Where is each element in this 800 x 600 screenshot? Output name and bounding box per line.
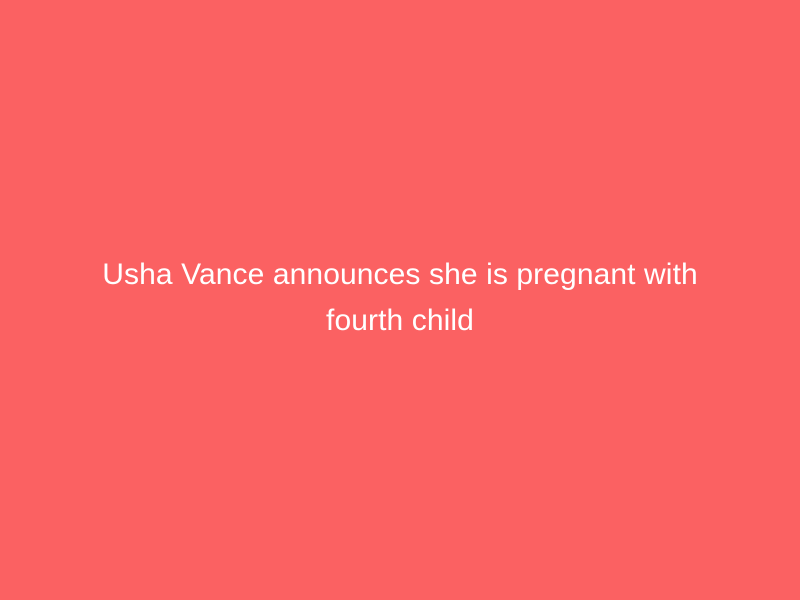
headline-card: Usha Vance announces she is pregnant wit… bbox=[0, 0, 800, 600]
page-title: Usha Vance announces she is pregnant wit… bbox=[68, 252, 732, 344]
headline-block: Usha Vance announces she is pregnant wit… bbox=[68, 252, 732, 344]
